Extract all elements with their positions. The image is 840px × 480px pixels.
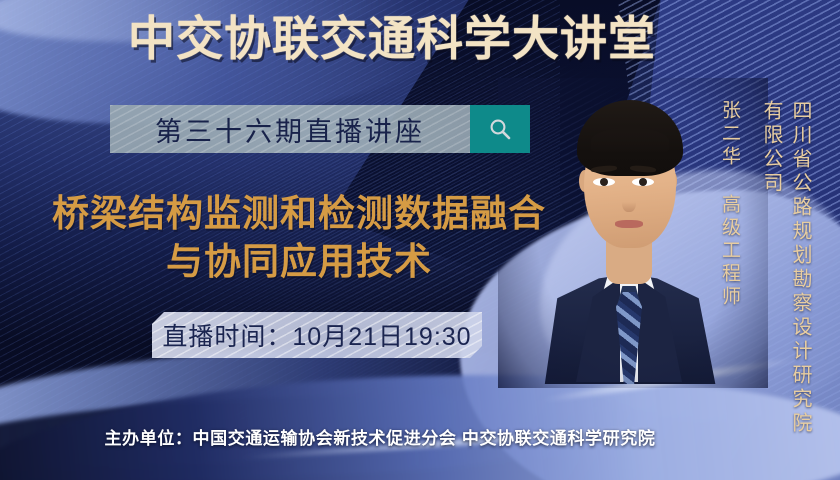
- speaker-name-title: 张二华 高级工程师: [716, 100, 743, 340]
- search-icon: [488, 117, 512, 141]
- portrait-mouth: [615, 220, 643, 228]
- search-button[interactable]: [470, 105, 530, 153]
- page-title: 中交协联交通科学大讲堂: [128, 14, 688, 63]
- speaker-organization: 四川省公路规划勘察设计研究院有限公司: [757, 100, 815, 456]
- portrait-nose: [622, 190, 636, 212]
- lecture-title-line-1: 桥梁结构监测和检测数据融合: [34, 190, 564, 238]
- episode-label: 第三十六期直播讲座: [110, 105, 470, 153]
- portrait-eye-left: [593, 178, 615, 186]
- lecture-title: 桥梁结构监测和检测数据融合 与协同应用技术: [34, 190, 564, 286]
- webinar-poster: 中交协联交通科学大讲堂 第三十六期直播讲座 桥梁结构监测和检测数据融合 与协同应…: [0, 0, 840, 480]
- lecture-title-line-2: 与协同应用技术: [34, 238, 564, 286]
- portrait-eye-right: [632, 178, 654, 186]
- portrait-hair: [577, 100, 683, 176]
- organizer-line: 主办单位：中国交通运输协会新技术促进分会 中交协联交通科学研究院: [0, 424, 760, 449]
- broadcast-time-text: 直播时间：10月21日19:30: [162, 317, 471, 353]
- broadcast-time-badge: 直播时间：10月21日19:30: [152, 312, 482, 358]
- episode-bar: 第三十六期直播讲座: [110, 105, 530, 153]
